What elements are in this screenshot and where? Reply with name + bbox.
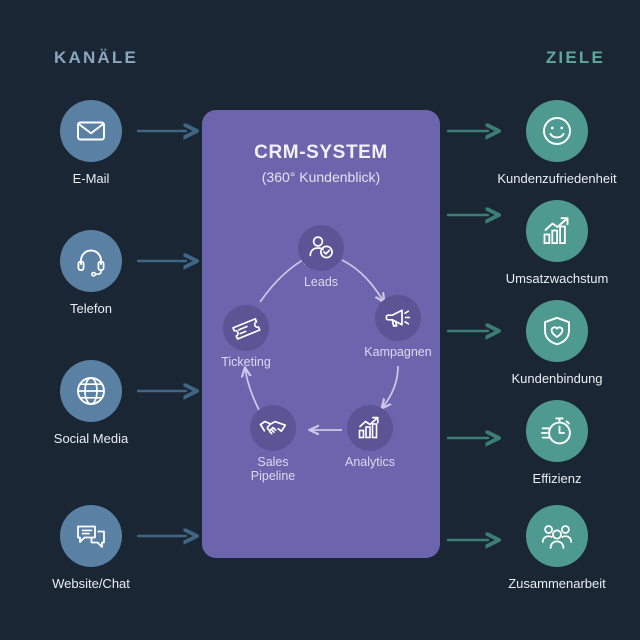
cycle-node-ticketing[interactable]: Ticketing xyxy=(202,305,290,370)
goal-label-kundenzufriedenheit: Kundenzufriedenheit xyxy=(492,171,622,186)
goal-item-kundenzufriedenheit[interactable]: Kundenzufriedenheit xyxy=(492,100,622,186)
people-group-icon xyxy=(526,505,588,567)
cycle-label-leads: Leads xyxy=(277,276,365,290)
cycle-node-sales-pipeline[interactable]: Sales Pipeline xyxy=(229,405,317,483)
growth-chart-icon xyxy=(526,200,588,262)
chat-bubbles-icon xyxy=(60,505,122,567)
goal-label-kundenbindung: Kundenbindung xyxy=(492,371,622,386)
cycle-node-analytics[interactable]: Analytics xyxy=(326,405,414,470)
goal-label-effizienz: Effizienz xyxy=(492,471,622,486)
cycle-label-sales-line1: Sales xyxy=(257,455,288,469)
cycle-label-kampagnen: Kampagnen xyxy=(354,346,442,360)
goal-arrows xyxy=(446,100,506,580)
goal-item-umsatzwachstum[interactable]: Umsatzwachstum xyxy=(492,200,622,286)
user-check-icon xyxy=(298,225,344,271)
diagram-canvas: KANÄLE ZIELE CRM-SYSTEM (360° Kundenblic… xyxy=(0,0,640,640)
megaphone-icon xyxy=(375,295,421,341)
channel-arrows xyxy=(130,100,210,580)
goal-item-zusammenarbeit[interactable]: Zusammenarbeit xyxy=(492,505,622,591)
handshake-icon xyxy=(250,405,296,451)
goal-item-effizienz[interactable]: Effizienz xyxy=(492,400,622,486)
goal-item-kundenbindung[interactable]: Kundenbindung xyxy=(492,300,622,386)
cycle-label-ticketing: Ticketing xyxy=(202,356,290,370)
shield-heart-icon xyxy=(526,300,588,362)
cycle-node-leads[interactable]: Leads xyxy=(277,225,365,290)
cycle-label-sales-line2: Pipeline xyxy=(251,469,295,483)
bar-chart-arrow-icon xyxy=(347,405,393,451)
headset-icon xyxy=(60,230,122,292)
goal-label-zusammenarbeit: Zusammenarbeit xyxy=(492,576,622,591)
ticket-icon xyxy=(223,305,269,351)
cycle-node-kampagnen[interactable]: Kampagnen xyxy=(354,295,442,360)
envelope-icon xyxy=(60,100,122,162)
stopwatch-icon xyxy=(526,400,588,462)
goal-label-umsatzwachstum: Umsatzwachstum xyxy=(492,271,622,286)
column-header-goals: ZIELE xyxy=(546,48,605,68)
column-header-channels: KANÄLE xyxy=(54,48,138,68)
cycle-label-analytics: Analytics xyxy=(326,456,414,470)
smiley-icon xyxy=(526,100,588,162)
globe-icon xyxy=(60,360,122,422)
crm-system-panel: CRM-SYSTEM (360° Kundenblick) xyxy=(202,110,440,558)
